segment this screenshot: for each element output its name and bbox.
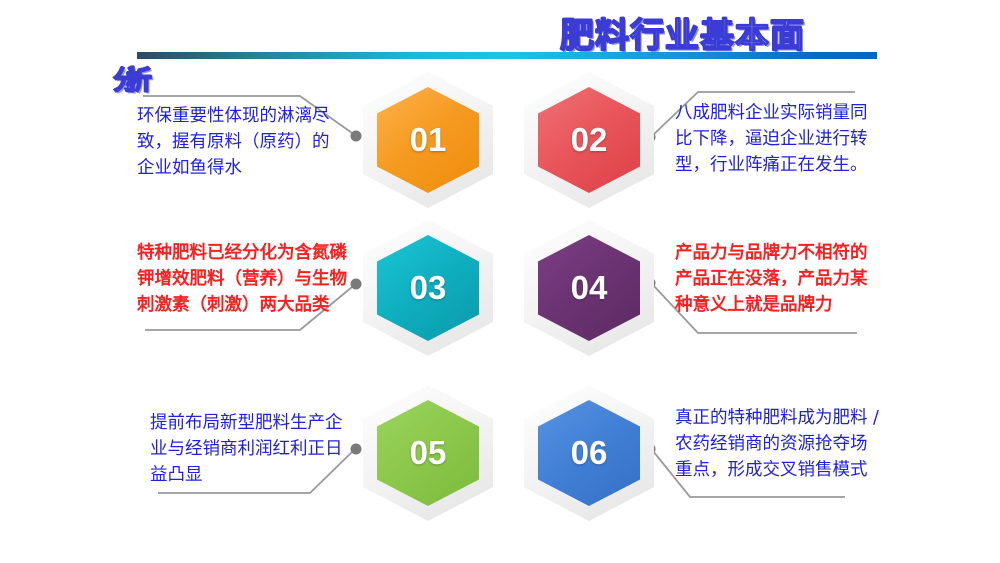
hex-number-05: 05 — [410, 434, 447, 472]
hex-number-06: 06 — [571, 434, 608, 472]
header-divider-bar — [137, 52, 877, 59]
hex-number-03: 03 — [410, 269, 447, 307]
hex-number-04: 04 — [571, 269, 608, 307]
item-text-02: 八成肥料企业实际销量同比下降，逼迫企业进行转型，行业阵痛正在发生。 — [675, 100, 880, 178]
item-text-01: 环保重要性体现的淋漓尽致，握有原料（原药）的企业如鱼得水 — [137, 103, 342, 181]
hex-number-01: 01 — [410, 121, 447, 159]
hex-badge-02[interactable]: 02 — [524, 72, 654, 208]
item-text-03: 特种肥料已经分化为含氮磷钾增效肥料（营养）与生物刺激素（刺激）两大品类 — [137, 240, 347, 318]
slide-canvas: 肥料行业基本面 分析 01 02 — [0, 0, 1000, 563]
hex-badge-03[interactable]: 03 — [363, 220, 493, 356]
hex-number-02: 02 — [571, 121, 608, 159]
hex-badge-04[interactable]: 04 — [524, 220, 654, 356]
hex-badge-01[interactable]: 01 — [363, 72, 493, 208]
hex-badge-05[interactable]: 05 — [363, 385, 493, 521]
hex-badge-06[interactable]: 06 — [524, 385, 654, 521]
page-title: 肥料行业基本面 — [560, 8, 805, 57]
item-text-05: 提前布局新型肥料生产企业与经销商利润红利正日益凸显 — [150, 410, 350, 488]
item-text-04: 产品力与品牌力不相符的产品正在没落，产品力某种意义上就是品牌力 — [675, 240, 880, 318]
item-text-06: 真正的特种肥料成为肥料 / 农药经销商的资源抢夺场重点，形成交叉销售模式 — [675, 405, 880, 483]
page-subtitle: 分析 — [113, 60, 139, 97]
